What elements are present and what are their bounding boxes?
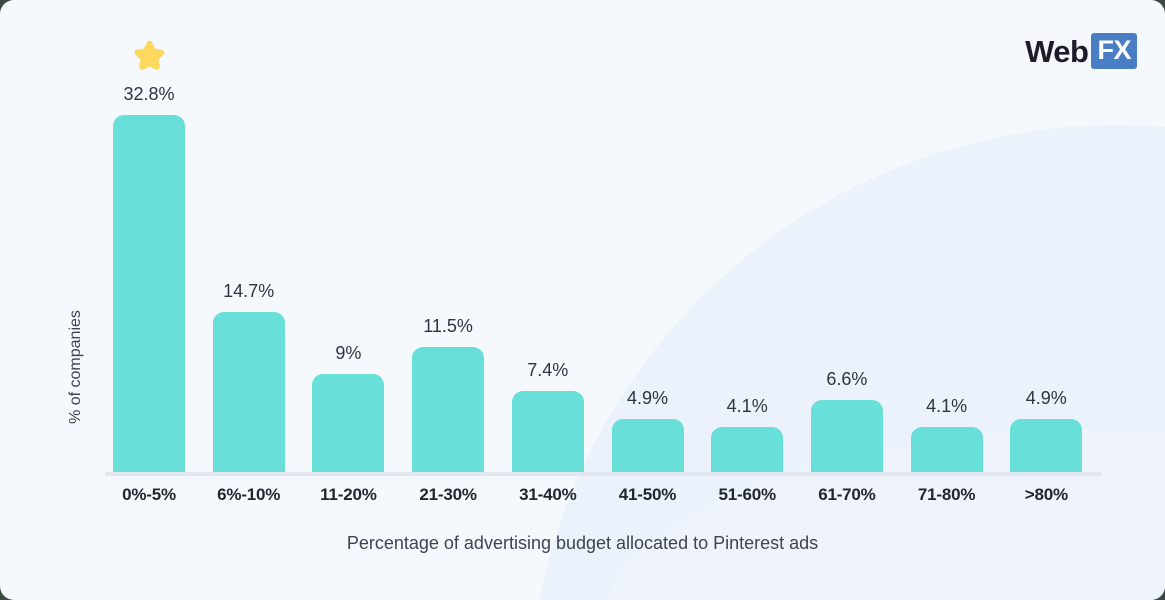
bar[interactable] xyxy=(312,374,384,472)
bar-value-label: 7.4% xyxy=(504,360,592,381)
bar[interactable] xyxy=(213,312,285,472)
x-axis-tick-label: >80% xyxy=(996,485,1096,505)
bar-group[interactable]: 32.8%0%-5% xyxy=(105,0,206,472)
bar-group[interactable]: 4.9%41-50% xyxy=(604,0,705,472)
bar-group[interactable]: 4.1%71-80% xyxy=(903,0,1004,472)
x-axis-tick-label: 6%-10% xyxy=(199,485,299,505)
bar[interactable] xyxy=(1010,419,1082,472)
bar-value-label: 4.9% xyxy=(604,388,692,409)
bar-group[interactable]: 6.6%61-70% xyxy=(803,0,904,472)
chart-card: Web FX % of companies 32.8%0%-5%14.7%6%-… xyxy=(0,0,1165,600)
x-axis-tick-label: 21-30% xyxy=(398,485,498,505)
x-axis-tick-label: 31-40% xyxy=(498,485,598,505)
bar[interactable] xyxy=(612,419,684,472)
bar-value-label: 4.1% xyxy=(703,396,791,417)
bars-container: 32.8%0%-5%14.7%6%-10%9%11-20%11.5%21-30%… xyxy=(105,0,1102,472)
bar-group[interactable]: 11.5%21-30% xyxy=(404,0,505,472)
x-axis-tick-label: 41-50% xyxy=(598,485,698,505)
bar-value-label: 32.8% xyxy=(105,84,193,105)
bar[interactable] xyxy=(811,400,883,472)
x-axis-baseline xyxy=(105,472,1102,476)
x-axis-tick-label: 61-70% xyxy=(797,485,897,505)
bar[interactable] xyxy=(512,391,584,472)
bar-group[interactable]: 9%11-20% xyxy=(304,0,405,472)
x-axis-tick-label: 0%-5% xyxy=(99,485,199,505)
bar-value-label: 14.7% xyxy=(205,281,293,302)
bar[interactable] xyxy=(711,427,783,472)
x-axis-tick-label: 51-60% xyxy=(697,485,797,505)
x-axis-tick-label: 11-20% xyxy=(298,485,398,505)
bar-group[interactable]: 14.7%6%-10% xyxy=(205,0,306,472)
bar[interactable] xyxy=(911,427,983,472)
y-axis-label: % of companies xyxy=(67,277,85,457)
bar-group[interactable]: 4.9%>80% xyxy=(1002,0,1103,472)
bar-value-label: 9% xyxy=(304,343,392,364)
x-axis-title: Percentage of advertising budget allocat… xyxy=(0,533,1165,554)
x-axis-tick-label: 71-80% xyxy=(897,485,997,505)
bar[interactable] xyxy=(412,347,484,472)
bar-value-label: 4.9% xyxy=(1002,388,1090,409)
bar-value-label: 6.6% xyxy=(803,369,891,390)
bar-value-label: 4.1% xyxy=(903,396,991,417)
bar-group[interactable]: 7.4%31-40% xyxy=(504,0,605,472)
bar-group[interactable]: 4.1%51-60% xyxy=(703,0,804,472)
bar[interactable] xyxy=(113,115,185,472)
bar-chart-plot-area: % of companies 32.8%0%-5%14.7%6%-10%9%11… xyxy=(0,0,1165,600)
bar-value-label: 11.5% xyxy=(404,316,492,337)
